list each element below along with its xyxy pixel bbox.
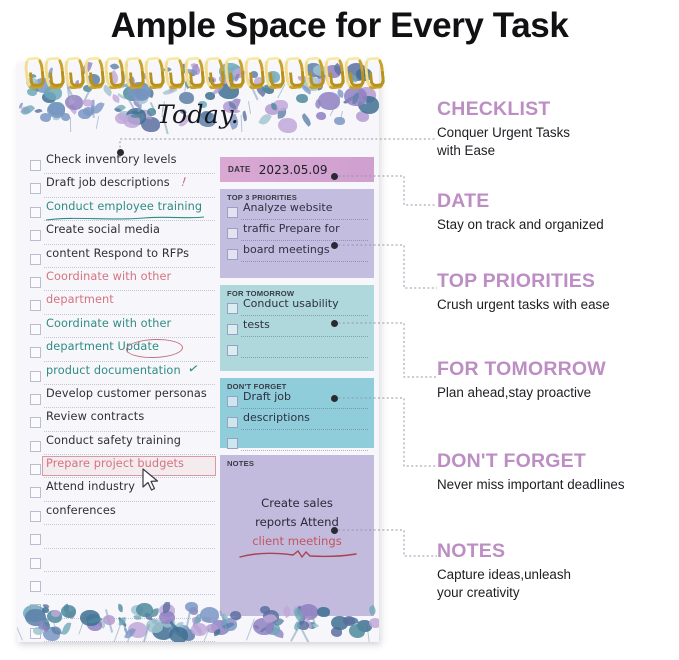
checklist-item-text: conferences bbox=[46, 504, 116, 517]
panel-rule-line bbox=[241, 315, 368, 316]
checklist-rule-line bbox=[44, 594, 215, 595]
checklist-checkbox[interactable] bbox=[30, 207, 41, 218]
floral-petal bbox=[191, 623, 207, 637]
spiral-ring bbox=[123, 56, 145, 90]
feature-label-subtitle: Capture ideas,unleash your creativity bbox=[437, 566, 571, 601]
floral-leaf bbox=[281, 605, 293, 618]
spiral-ring bbox=[343, 56, 365, 90]
floral-petal bbox=[200, 607, 219, 623]
panel-checkbox[interactable] bbox=[227, 249, 238, 260]
connector-dot-priorities bbox=[331, 242, 338, 249]
checklist-row[interactable]: Conduct employee training bbox=[30, 201, 215, 224]
notes-panel[interactable]: NOTES Create sales reports Attend client… bbox=[220, 455, 374, 616]
floral-petal bbox=[317, 607, 330, 618]
feature-label-subtitle: Never miss important deadlines bbox=[437, 476, 625, 494]
panel-item-text: traffic Prepare for bbox=[243, 222, 340, 235]
floral-leaf bbox=[61, 622, 71, 636]
panel-rule-line bbox=[241, 240, 368, 241]
spiral-ring bbox=[323, 56, 345, 90]
spiral-binding bbox=[17, 57, 379, 85]
panel-checkbox[interactable] bbox=[227, 417, 238, 428]
feature-label-4: FOR TOMORROWPlan ahead,stay proactive bbox=[437, 358, 606, 402]
floral-stem bbox=[290, 629, 298, 641]
feature-label-title: DATE bbox=[437, 190, 604, 213]
panel-checkbox[interactable] bbox=[227, 303, 238, 314]
checklist-item-text: Draft job descriptions bbox=[46, 176, 170, 189]
panel-rule-line bbox=[241, 261, 368, 262]
connector-dot-date bbox=[331, 173, 338, 180]
checklist-checkbox[interactable] bbox=[30, 254, 41, 265]
panel-row[interactable]: descriptions bbox=[227, 412, 368, 433]
panel-row[interactable]: Conduct usability bbox=[227, 298, 368, 319]
checklist-rule-line bbox=[44, 407, 215, 408]
spiral-ring bbox=[23, 56, 45, 90]
checklist-item-text: department bbox=[46, 293, 114, 306]
panel-checkbox[interactable] bbox=[227, 207, 238, 218]
checklist-row[interactable]: Attend industry bbox=[30, 481, 215, 504]
checklist-checkbox[interactable] bbox=[30, 371, 41, 382]
mouse-cursor bbox=[141, 468, 161, 494]
checklist-row[interactable]: Review contracts bbox=[30, 411, 215, 434]
panel-rule-line bbox=[241, 357, 368, 358]
panel-row[interactable]: traffic Prepare for bbox=[227, 223, 368, 244]
connector-dot-tomorrow bbox=[331, 320, 338, 327]
floral-petal bbox=[230, 611, 241, 620]
panel-item-text: Draft job bbox=[243, 390, 291, 403]
floral-petal bbox=[343, 616, 355, 626]
checklist-item-text: Coordinate with other bbox=[46, 317, 171, 330]
feature-label-subtitle: Conquer Urgent Tasks with Ease bbox=[437, 124, 570, 159]
spiral-ring bbox=[303, 56, 325, 90]
checklist-rule-line bbox=[44, 173, 215, 174]
checklist-item-text: Attend industry bbox=[46, 480, 135, 493]
checklist-checkbox[interactable] bbox=[30, 324, 41, 335]
checklist-checkbox[interactable] bbox=[30, 347, 41, 358]
panel-rule-line bbox=[241, 450, 368, 451]
for-tomorrow-panel[interactable]: FOR TOMORROW Conduct usabilitytests bbox=[220, 285, 374, 371]
panel-rule-line bbox=[241, 219, 368, 220]
checklist-row[interactable] bbox=[30, 575, 215, 598]
checklist-item-text: Conduct employee training bbox=[46, 200, 202, 213]
date-value: 2023.05.09 bbox=[259, 163, 328, 177]
checklist-checkbox[interactable] bbox=[30, 300, 41, 311]
spiral-ring bbox=[363, 56, 385, 90]
feature-label-title: TOP PRIORITIES bbox=[437, 270, 610, 293]
panel-row[interactable] bbox=[227, 340, 368, 361]
checklist-rule-line bbox=[44, 431, 215, 432]
checklist-row[interactable]: content Respond to RFPs bbox=[30, 248, 215, 271]
panel-row[interactable]: board meetings bbox=[227, 244, 368, 265]
checklist-row[interactable]: Coordinate with other bbox=[30, 318, 215, 341]
panel-rule-line bbox=[241, 336, 368, 337]
floral-petal bbox=[349, 624, 365, 637]
checklist-checkbox[interactable] bbox=[30, 464, 41, 475]
checklist-checkbox[interactable] bbox=[30, 394, 41, 405]
checklist-checkbox[interactable] bbox=[30, 160, 41, 171]
connector-dot-forget bbox=[331, 395, 338, 402]
checklist-rule-line bbox=[44, 548, 215, 549]
feature-label-6: NOTESCapture ideas,unleash your creativi… bbox=[437, 540, 571, 601]
checklist-rule-line bbox=[44, 384, 215, 385]
spiral-ring bbox=[103, 56, 125, 90]
panel-row[interactable]: Analyze website bbox=[227, 202, 368, 223]
checklist-item-text: Prepare project budgets bbox=[46, 457, 184, 470]
panel-checkbox[interactable] bbox=[227, 396, 238, 407]
floral-stem bbox=[302, 630, 313, 642]
panel-row[interactable]: tests bbox=[227, 319, 368, 340]
checklist-row[interactable]: department bbox=[30, 294, 215, 317]
checklist-row[interactable]: department Update bbox=[30, 341, 215, 364]
panel-row[interactable]: Draft job bbox=[227, 391, 368, 412]
floral-leaf bbox=[118, 604, 124, 612]
checklist-rule-line bbox=[44, 501, 215, 502]
checklist-checkbox[interactable] bbox=[30, 441, 41, 452]
floral-petal bbox=[369, 618, 379, 628]
spiral-ring bbox=[163, 56, 185, 90]
top-priorities-panel[interactable]: TOP 3 PRIORITIES Analyze websitetraffic … bbox=[220, 189, 374, 278]
spiral-ring bbox=[243, 56, 265, 90]
feature-label-3: TOP PRIORITIESCrush urgent tasks with ea… bbox=[437, 270, 610, 314]
checklist-row[interactable] bbox=[30, 552, 215, 575]
checklist-row[interactable]: Prepare project budgets bbox=[30, 458, 215, 481]
date-label: DATE bbox=[228, 165, 251, 174]
panel-checkbox[interactable] bbox=[227, 438, 238, 449]
floral-leaf bbox=[367, 604, 377, 615]
feature-label-title: CHECKLIST bbox=[437, 98, 570, 121]
floral-petal bbox=[61, 605, 76, 617]
panel-item-text: descriptions bbox=[243, 411, 310, 424]
feature-label-title: DON'T FORGET bbox=[437, 450, 625, 473]
checklist-rule-line bbox=[44, 244, 215, 245]
checklist-rule-line bbox=[44, 571, 215, 572]
panel-item-text: tests bbox=[243, 318, 270, 331]
checklist-row[interactable]: Coordinate with other bbox=[30, 271, 215, 294]
connector-dot-checklist bbox=[117, 149, 124, 156]
panel-row[interactable] bbox=[227, 433, 368, 454]
date-panel[interactable]: DATE 2023.05.09 bbox=[220, 157, 374, 182]
spiral-ring bbox=[43, 56, 65, 90]
panel-rule-line bbox=[241, 408, 368, 409]
checklist-rule-line bbox=[44, 197, 215, 198]
checklist-rule-line bbox=[44, 290, 215, 291]
today-heading: Today. bbox=[17, 100, 379, 129]
connector-dot-notes bbox=[331, 527, 338, 534]
checklist-row[interactable]: Conduct safety training bbox=[30, 435, 215, 458]
feature-label-subtitle: Plan ahead,stay proactive bbox=[437, 384, 606, 402]
checklist-row[interactable]: Develop customer personas bbox=[30, 388, 215, 411]
floral-petal bbox=[260, 606, 270, 614]
checklist-rule-line bbox=[44, 267, 215, 268]
panel-rule-line bbox=[241, 429, 368, 430]
checklist-item-text: Create social media bbox=[46, 223, 160, 236]
feature-label-title: FOR TOMORROW bbox=[437, 358, 606, 381]
checklist-rule-line bbox=[44, 337, 215, 338]
checklist-item-text: Check inventory levels bbox=[46, 153, 177, 166]
checklist-row[interactable]: product documentation✓ bbox=[30, 365, 215, 388]
floral-border-bottom bbox=[17, 602, 379, 642]
notes-body: Create sales reports Attend client meeti… bbox=[220, 494, 374, 551]
floral-petal bbox=[51, 610, 59, 617]
floral-leaf bbox=[212, 629, 220, 637]
panel-item-text: Conduct usability bbox=[243, 297, 339, 310]
underline-annotation bbox=[44, 215, 208, 222]
spiral-ring bbox=[63, 56, 85, 90]
checklist-checkbox[interactable] bbox=[30, 558, 41, 569]
panel-checkbox[interactable] bbox=[227, 345, 238, 356]
checklist-item-text: content Respond to RFPs bbox=[46, 247, 189, 260]
spiral-ring bbox=[263, 56, 285, 90]
feature-label-subtitle: Crush urgent tasks with ease bbox=[437, 296, 610, 314]
checklist-item-text: Conduct safety training bbox=[46, 434, 181, 447]
page-title: Ample Space for Every Task bbox=[0, 0, 679, 52]
feature-label-1: CHECKLISTConquer Urgent Tasks with Ease bbox=[437, 98, 570, 159]
checklist-row[interactable]: Draft job descriptions! bbox=[30, 177, 215, 200]
notepad: Today. Check inventory levelsDraft job d… bbox=[17, 62, 379, 642]
checklist-item-text: product documentation bbox=[46, 364, 181, 377]
spiral-ring bbox=[223, 56, 245, 90]
checklist-item-text: Review contracts bbox=[46, 410, 144, 423]
feature-label-5: DON'T FORGETNever miss important deadlin… bbox=[437, 450, 625, 494]
checklist-checkbox[interactable] bbox=[30, 183, 41, 194]
checklist-checkbox[interactable] bbox=[30, 534, 41, 545]
checklist-item-text: Coordinate with other bbox=[46, 270, 171, 283]
checklist-checkbox[interactable] bbox=[30, 487, 41, 498]
checklist-rule-line bbox=[44, 454, 215, 455]
notes-line-2: reports Attend bbox=[220, 513, 374, 532]
circle-annotation bbox=[126, 338, 184, 359]
checklist-item-text: Develop customer personas bbox=[46, 387, 207, 400]
checklist-column: Check inventory levelsDraft job descript… bbox=[30, 154, 215, 642]
checklist-checkbox[interactable] bbox=[30, 417, 41, 428]
spiral-ring bbox=[83, 56, 105, 90]
checklist-row[interactable] bbox=[30, 528, 215, 551]
spiral-ring bbox=[283, 56, 305, 90]
floral-petal bbox=[103, 615, 115, 625]
checklist-checkbox[interactable] bbox=[30, 230, 41, 241]
notes-line-1: Create sales bbox=[220, 494, 374, 513]
pen-mark-annotation: ! bbox=[180, 174, 188, 189]
floral-stem bbox=[114, 623, 123, 642]
floral-stem bbox=[17, 626, 23, 640]
floral-leaf bbox=[133, 615, 141, 621]
checklist-rule-line bbox=[44, 524, 215, 525]
spiral-ring bbox=[203, 56, 225, 90]
feature-label-title: NOTES bbox=[437, 540, 571, 563]
checklist-row[interactable]: Create social media bbox=[30, 224, 215, 247]
checklist-rule-line bbox=[44, 314, 215, 315]
panel-item-text: Analyze website bbox=[243, 201, 332, 214]
feature-label-2: DATEStay on track and organized bbox=[437, 190, 604, 234]
checklist-checkbox[interactable] bbox=[30, 511, 41, 522]
spiral-ring bbox=[143, 56, 165, 90]
checklist-rule-line bbox=[44, 477, 215, 478]
dont-forget-panel[interactable]: DON'T FORGET Draft jobdescriptions bbox=[220, 378, 374, 448]
notes-underline-squiggle bbox=[238, 549, 358, 561]
notes-title: NOTES bbox=[220, 455, 374, 468]
checklist-checkbox[interactable] bbox=[30, 277, 41, 288]
checklist-row[interactable]: conferences bbox=[30, 505, 215, 528]
panel-checkbox[interactable] bbox=[227, 228, 238, 239]
panel-checkbox[interactable] bbox=[227, 324, 238, 335]
spiral-ring bbox=[183, 56, 205, 90]
checklist-checkbox[interactable] bbox=[30, 581, 41, 592]
floral-petal bbox=[185, 602, 197, 612]
floral-leaf bbox=[292, 621, 302, 631]
panel-item-text: board meetings bbox=[243, 243, 330, 256]
feature-label-subtitle: Stay on track and organized bbox=[437, 216, 604, 234]
check-mark-annotation: ✓ bbox=[186, 360, 200, 378]
